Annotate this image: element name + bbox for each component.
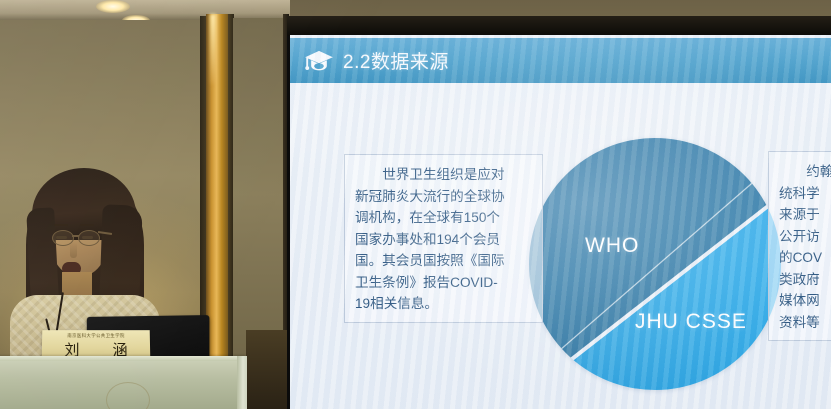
textbox-line: 类政府 bbox=[779, 269, 831, 291]
pie-circle bbox=[529, 138, 781, 390]
podium-top-edge bbox=[0, 356, 246, 361]
textbox-line: 国。其会员国按照《国际 bbox=[355, 250, 532, 272]
slide-banner: 2.2数据来源 bbox=[290, 38, 831, 83]
ceiling-light-icon bbox=[96, 0, 130, 13]
textbox-line: 约翰 bbox=[779, 161, 831, 183]
presenter-nose bbox=[70, 242, 77, 258]
textbox-line: 世界卫生组织是应对 bbox=[355, 164, 532, 186]
projection-screen-top-shadow bbox=[287, 16, 831, 36]
room-shadow-right bbox=[246, 330, 290, 409]
textbox-line: 卫生条例》报告COVID- bbox=[355, 272, 532, 294]
glasses-lens-right-icon bbox=[78, 230, 100, 246]
textbox-who-description: 世界卫生组织是应对 新冠肺炎大流行的全球协 调机构，在全球有150个 国家办事处… bbox=[344, 154, 543, 323]
textbox-line: 统科学 bbox=[779, 183, 831, 205]
pie-chart: WHO JHU CSSE bbox=[529, 138, 781, 390]
presentation-photo-scene: Lenovo 南京医科大学公共卫生学院 刘 涵 2.2数据来源 bbox=[0, 0, 831, 409]
slide-title: 2.2数据来源 bbox=[343, 47, 449, 74]
textbox-line: 调机构，在全球有150个 bbox=[355, 207, 532, 229]
glasses-bridge bbox=[72, 235, 79, 237]
textbox-line: 来源于 bbox=[779, 204, 831, 226]
textbox-line: 公开访 bbox=[779, 226, 831, 248]
presentation-slide: 2.2数据来源 WHO JHU CSSE 世界卫生组织是应对 新冠肺炎大流行的全… bbox=[290, 35, 831, 409]
textbox-line: 媒体网 bbox=[779, 290, 831, 312]
textbox-line: 资料等 bbox=[779, 312, 831, 334]
pie-label-who: WHO bbox=[585, 234, 639, 258]
podium-side-panel bbox=[237, 356, 247, 409]
textbox-line: 国家办事处和194个会员 bbox=[355, 229, 532, 251]
gold-column-highlight bbox=[210, 14, 216, 84]
graduation-cap-icon bbox=[304, 49, 334, 73]
textbox-jhu-description: 约翰 统科学 来源于 公开访 的COV 类政府 媒体网 资料等 bbox=[768, 151, 831, 341]
textbox-line: 的COV bbox=[779, 247, 831, 269]
textbox-line: 新冠肺炎大流行的全球协 bbox=[355, 186, 532, 208]
textbox-line: 19相关信息。 bbox=[355, 293, 532, 315]
pie-label-jhu-csse: JHU CSSE bbox=[635, 310, 747, 334]
